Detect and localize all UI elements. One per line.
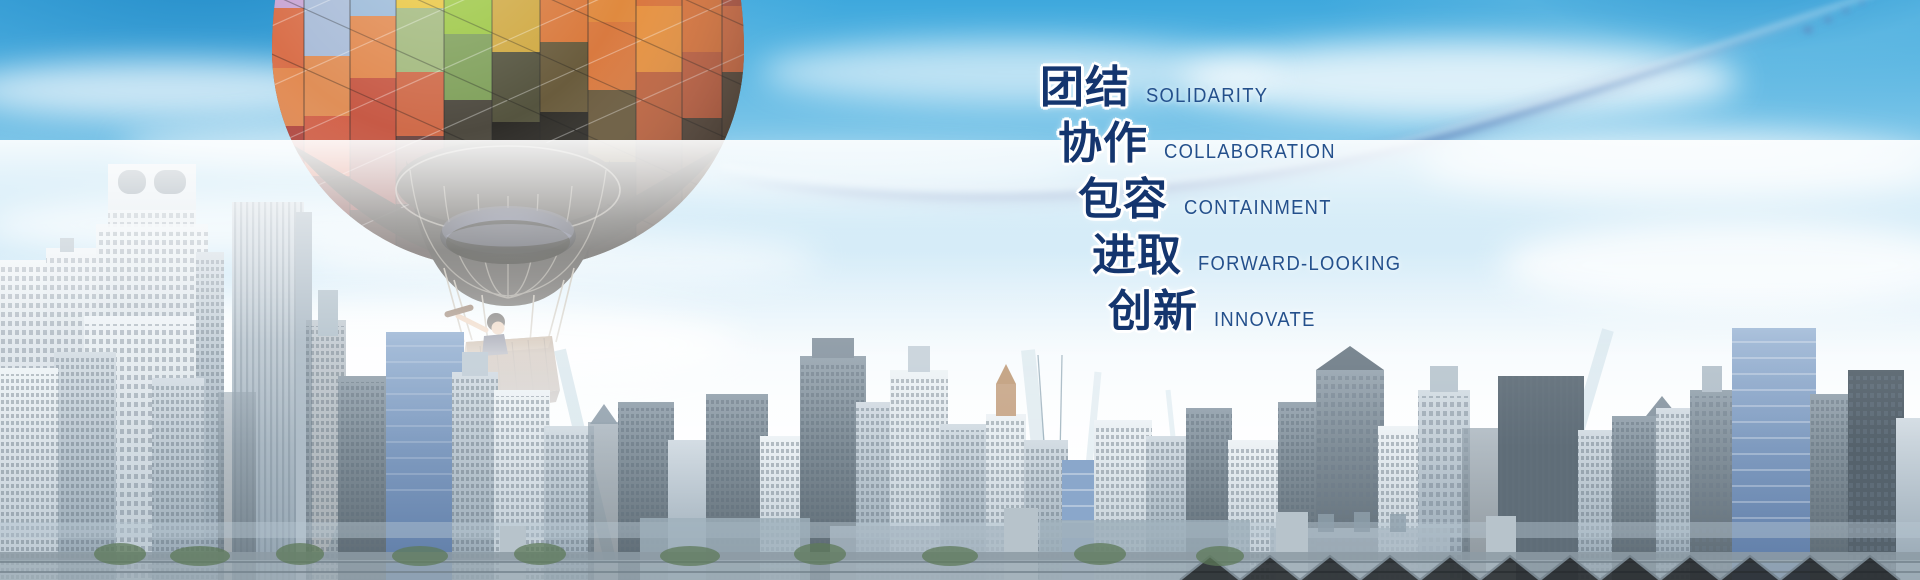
slogan-cn-5: 创新 [1108,290,1198,334]
banner-root: 团结 SOLIDARITY 协作 COLLABORATION 包容 CONTAI… [0,0,1920,580]
slogan-cn-3: 包容 [1078,178,1168,222]
city-skyline [0,140,1920,580]
slogan-line-3: 包容 CONTAINMENT [1078,178,1600,222]
slogan-en-2: COLLABORATION [1164,141,1336,164]
slogan-line-2: 协作 COLLABORATION [1058,122,1600,166]
slogan-cn-1: 团结 [1040,66,1130,110]
slogan-line-4: 进取 FORWARD-LOOKING [1092,234,1600,278]
slogan-en-3: CONTAINMENT [1184,197,1332,220]
slogan-line-5: 创新 INNOVATE [1108,290,1600,334]
slogan-cn-2: 协作 [1058,122,1148,166]
slogan-line-1: 团结 SOLIDARITY [1040,66,1600,110]
slogan-en-4: FORWARD-LOOKING [1198,253,1401,276]
slogan-block: 团结 SOLIDARITY 协作 COLLABORATION 包容 CONTAI… [1040,66,1600,346]
slogan-cn-4: 进取 [1092,234,1182,278]
slogan-en-1: SOLIDARITY [1146,85,1268,108]
slogan-en-5: INNOVATE [1214,309,1316,332]
